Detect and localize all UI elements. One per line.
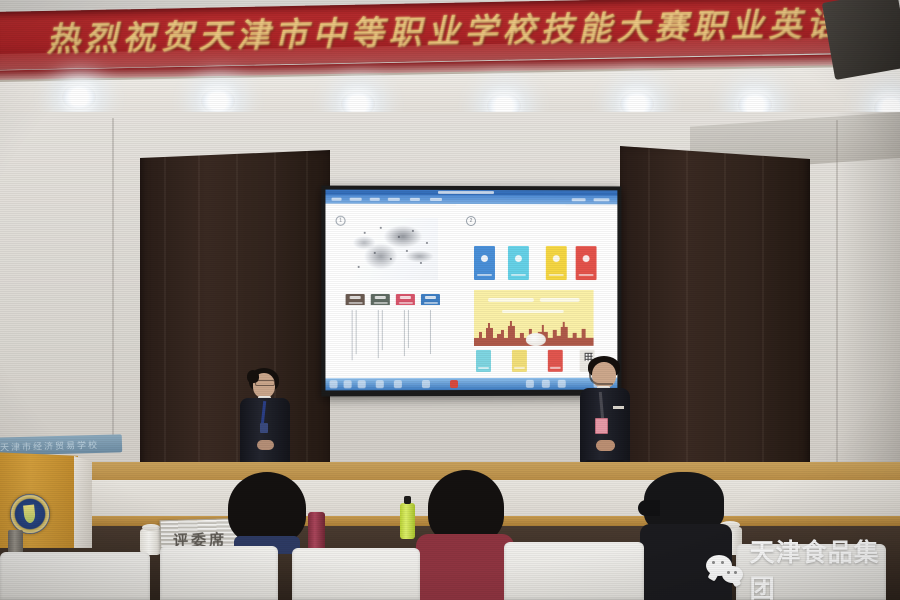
ceiling-speaker <box>822 0 900 80</box>
chair-cover <box>292 548 420 600</box>
water-bottle <box>400 503 415 539</box>
aerial-map-image <box>346 218 438 280</box>
app-ribbon <box>325 195 617 205</box>
watermark: 天津食品集团 <box>706 533 900 600</box>
audience-member-2 <box>428 470 504 544</box>
info-card-yellow <box>546 246 567 280</box>
slide-canvas: 1 2 <box>325 206 617 379</box>
podium-side-panel <box>74 456 92 548</box>
thermos-flask <box>308 512 325 552</box>
panel-subline <box>502 310 564 313</box>
os-taskbar <box>325 378 617 391</box>
hair-bun <box>247 370 259 383</box>
slide-text-lines <box>356 310 357 354</box>
info-card-blue <box>474 246 495 280</box>
slide-text-lines <box>382 310 383 350</box>
slide-text-lines <box>404 310 405 356</box>
podium-nameplate: 天津市经济贸易学校 <box>0 434 122 455</box>
slide-marker-two: 2 <box>466 216 476 226</box>
projected-slide: 1 2 <box>325 190 617 391</box>
slide-text-lines <box>378 310 379 358</box>
panel-headline <box>540 298 580 302</box>
slide-text-lines <box>408 310 409 348</box>
watermark-text: 天津食品集团 <box>750 533 900 600</box>
hands <box>257 440 274 450</box>
school-emblem <box>10 494 50 534</box>
stage-curtain-left <box>140 150 330 472</box>
slide-marker-one: 1 <box>336 216 346 226</box>
pocket-square-icon <box>613 406 624 409</box>
photo-scene: 热烈祝贺天津市中等职业学校技能大赛职业英语技能赛项圆 <box>0 0 900 600</box>
thumb-card-red <box>548 350 563 372</box>
chair-cover <box>160 546 278 600</box>
ceiling-spotlight <box>201 88 235 114</box>
id-badge <box>260 423 268 433</box>
panel-headline <box>488 298 534 302</box>
stage-curtain-right <box>620 146 810 472</box>
podium-nameplate-text: 天津市经济贸易学校 <box>0 438 99 454</box>
audience-member-2-shirt <box>416 534 514 600</box>
thumb-card-yellow <box>512 350 527 372</box>
audience-member-3-cap-brim <box>638 500 660 516</box>
tab-card-2 <box>371 294 390 305</box>
tab-card-1 <box>346 294 365 305</box>
skyline-panel <box>474 290 594 346</box>
tab-card-4 <box>421 294 440 305</box>
slide-text-lines <box>352 310 353 360</box>
wechat-icon <box>706 555 743 583</box>
audience-member-1 <box>228 472 306 544</box>
headset-microphone-icon <box>589 370 613 385</box>
projection-screen: 1 2 <box>321 186 621 397</box>
wall-seam <box>112 118 114 448</box>
wall-corner-shadow <box>836 112 900 472</box>
banner-text: 热烈祝贺天津市中等职业学校技能大赛职业英语技能赛项圆 <box>46 0 881 61</box>
slide-text-lines <box>430 310 431 354</box>
chair-cover <box>504 542 644 600</box>
info-card-cyan <box>508 246 529 280</box>
chair-cover <box>0 552 150 600</box>
info-card-red <box>576 246 597 280</box>
ceiling-spotlight <box>62 84 96 110</box>
globe-graphic <box>526 333 546 346</box>
id-badge <box>595 418 608 434</box>
hands <box>596 440 615 451</box>
tab-card-3 <box>396 294 415 305</box>
thumb-card-cyan <box>476 350 491 372</box>
